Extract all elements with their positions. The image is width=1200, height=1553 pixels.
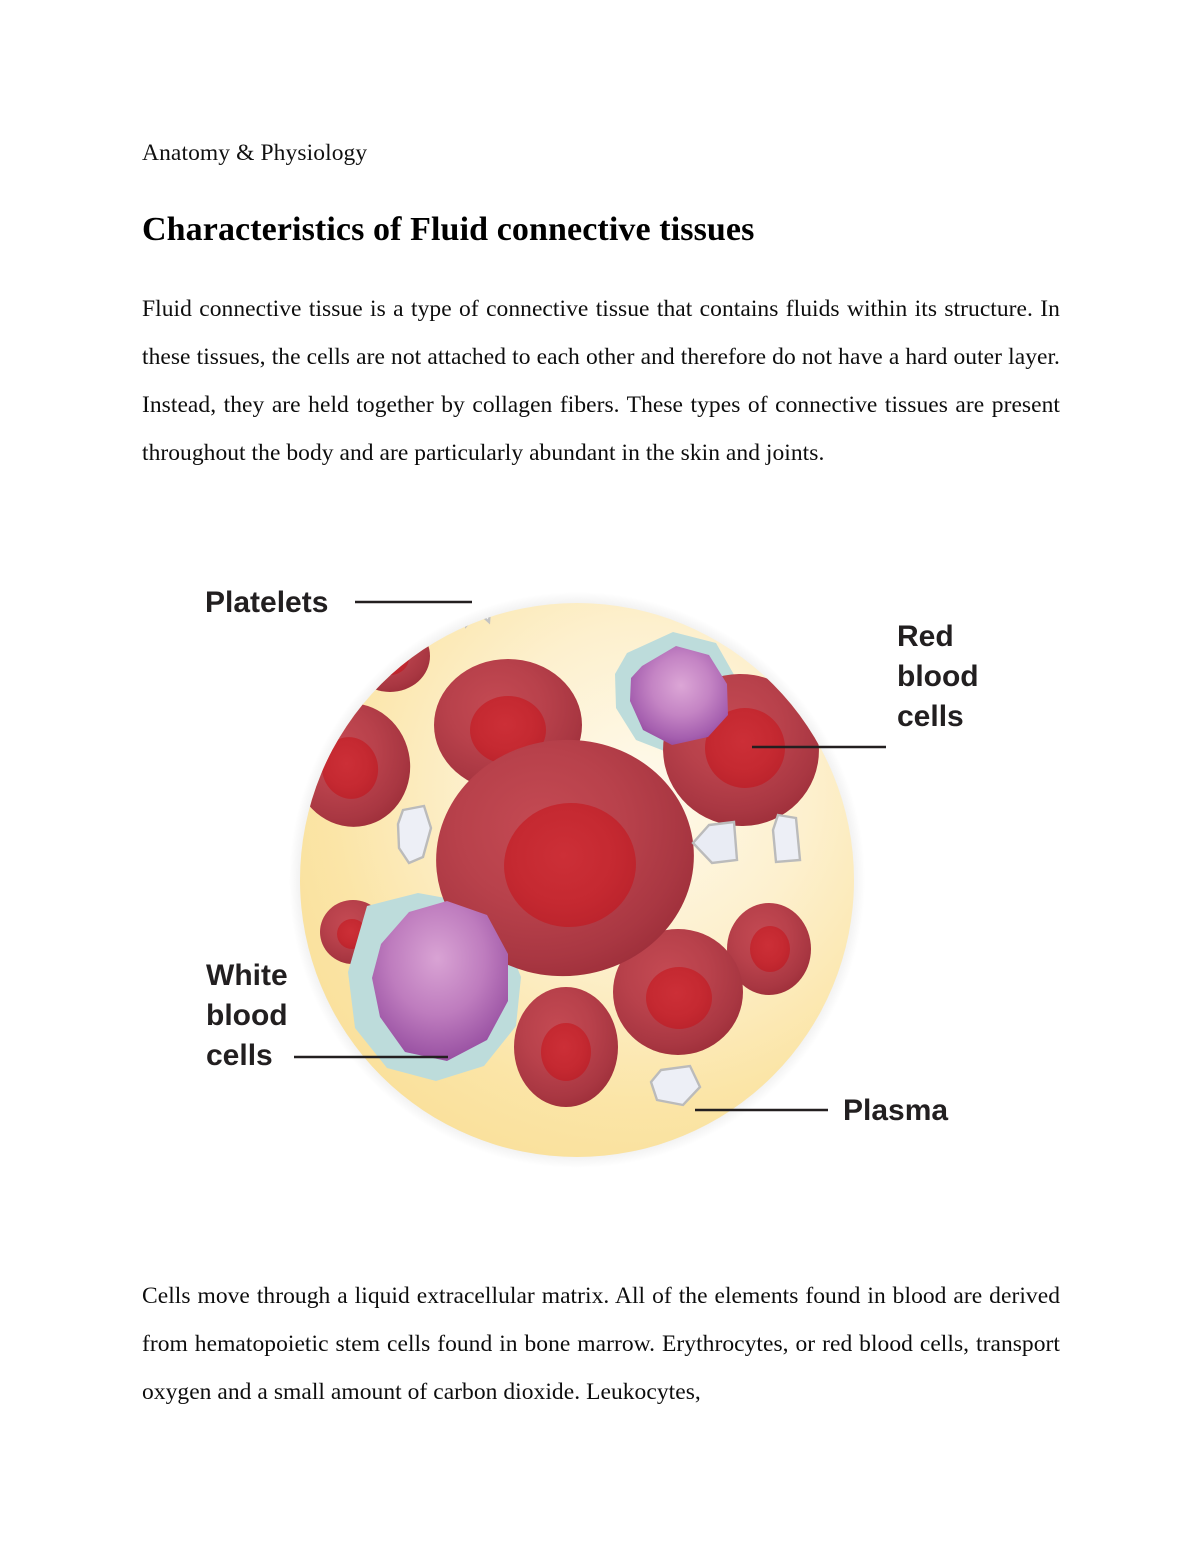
body-paragraph-1: Fluid connective tissue is a type of con… [142, 285, 1060, 477]
red-blood-cells-label-line-3: cells [897, 700, 964, 733]
white-blood-cells-label-line-3: cells [206, 1039, 273, 1072]
red-blood-cell [350, 620, 430, 692]
document-text-block-bottom: Cells move through a liquid extracellula… [142, 1272, 1060, 1440]
page-title: Characteristics of Fluid connective tiss… [142, 209, 1060, 252]
plasma-label-text: Plasma [843, 1094, 948, 1127]
label-platelets: Platelets [205, 586, 472, 619]
white-blood-cells-label-line-2: blood [206, 999, 288, 1032]
document-text-block: Anatomy & Physiology Characteristics of … [142, 138, 1060, 501]
red-blood-cell [514, 987, 618, 1107]
document-kicker: Anatomy & Physiology [142, 138, 1060, 169]
white-blood-cells-label-line-1: White [206, 959, 288, 992]
platelet [773, 815, 800, 862]
document-page: Anatomy & Physiology Characteristics of … [0, 0, 1200, 1553]
blood-diagram-figure: Platelets Red blood cells White blood ce… [0, 560, 1200, 1200]
platelets-label-text: Platelets [205, 586, 328, 619]
body-paragraph-2: Cells move through a liquid extracellula… [142, 1272, 1060, 1416]
blood-diagram-svg: Platelets Red blood cells White blood ce… [0, 560, 1200, 1200]
red-blood-cells-label-line-2: blood [897, 660, 979, 693]
red-blood-cells-label-line-1: Red [897, 620, 954, 653]
